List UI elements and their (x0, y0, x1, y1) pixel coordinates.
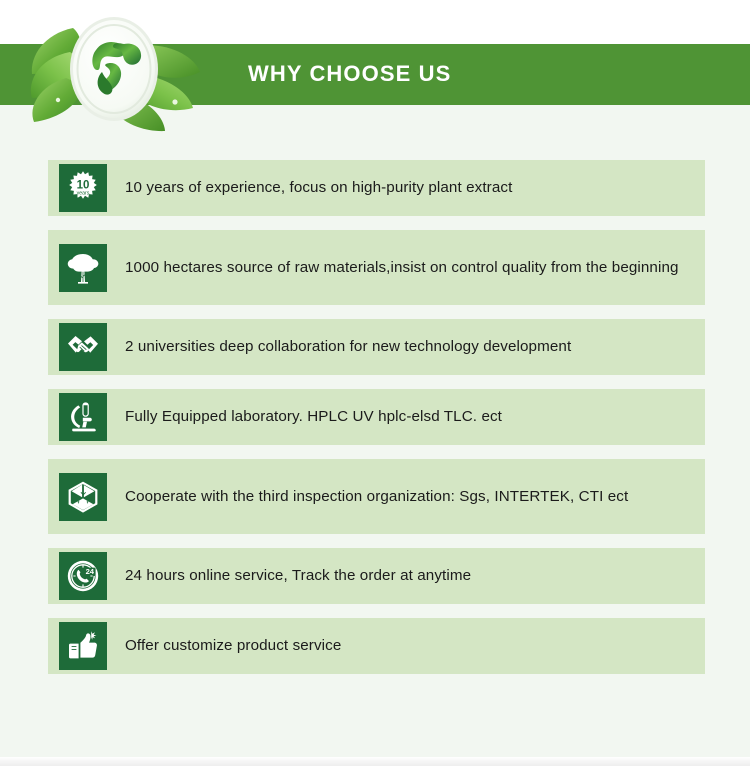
list-item[interactable]: Offer customize product service (48, 618, 705, 674)
twenty-four-hour-phone-icon: 24 (59, 552, 107, 600)
list-item-label: 10 years of experience, focus on high-pu… (125, 177, 705, 199)
list-item[interactable]: Fully Equipped laboratory. HPLC UV hplc-… (48, 389, 705, 445)
page-title: WHY CHOOSE US (248, 60, 451, 88)
list-item-label: Cooperate with the third inspection orga… (125, 486, 705, 508)
list-item-label: Fully Equipped laboratory. HPLC UV hplc-… (125, 406, 705, 428)
list-item[interactable]: 10 years 10 years of experience, focus o… (48, 160, 705, 216)
bottom-edge-shadow (0, 757, 750, 766)
leaf-circle-logo-icon (18, 12, 218, 134)
why-choose-us-banner: WHY CHOOSE US (0, 0, 750, 766)
list-item-label: 1000 hectares source of raw materials,in… (125, 257, 705, 279)
list-item-label: 24 hours online service, Track the order… (125, 565, 705, 587)
list-item-label: 2 universities deep collaboration for ne… (125, 336, 705, 358)
tree-icon (59, 244, 107, 292)
list-item-label: Offer customize product service (125, 635, 705, 657)
list-item[interactable]: 2 universities deep collaboration for ne… (48, 319, 705, 375)
list-item[interactable]: 24 24 hours online service, Track the or… (48, 548, 705, 604)
badge-years-word: years (77, 191, 90, 197)
ten-years-badge-icon: 10 years (59, 164, 107, 212)
microscope-icon (59, 393, 107, 441)
list-item[interactable]: Cooperate with the third inspection orga… (48, 459, 705, 534)
handshake-icon (59, 323, 107, 371)
list-item[interactable]: 1000 hectares source of raw materials,in… (48, 230, 705, 305)
badge-years-number: 10 (77, 179, 90, 191)
badge-24-label: 24 (84, 567, 96, 576)
benefit-list: 10 years 10 years of experience, focus o… (48, 160, 705, 688)
cube-box-icon (59, 473, 107, 521)
svg-text:24: 24 (86, 567, 95, 576)
thumbs-up-icon (59, 622, 107, 670)
